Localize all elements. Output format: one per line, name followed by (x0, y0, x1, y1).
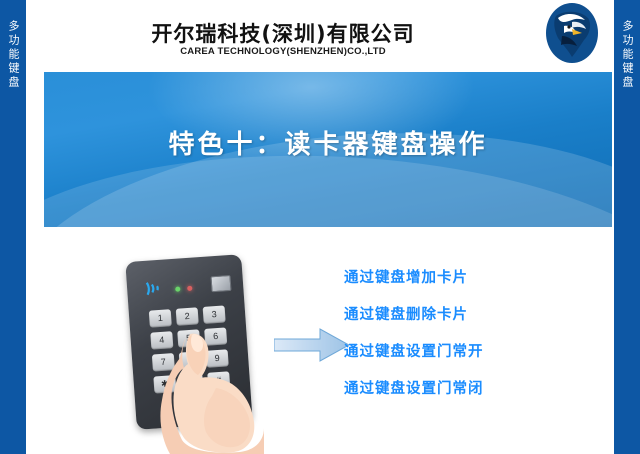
left-side-bar-label: 多功能键盘 (5, 20, 21, 90)
page-header: 开尔瑞科技(深圳)有限公司 CAREA TECHNOLOGY(SHENZHEN)… (26, 0, 614, 70)
eagle-logo (542, 2, 602, 64)
hand-pointing-illustration (156, 328, 266, 454)
right-side-bar: 多功能键盘 (614, 0, 640, 454)
slide-root: 多功能键盘 多功能键盘 开尔瑞科技(深圳)有限公司 CAREA TECHNOLO… (0, 0, 640, 454)
right-arrow-icon (274, 328, 350, 362)
rfid-wave-icon (142, 277, 169, 299)
led-green-icon (175, 286, 180, 291)
proximity-card-icon (210, 275, 231, 292)
slide-body: 1 2 3 4 5 6 7 8 9 ✱ 0 # (26, 240, 614, 454)
key-1[interactable]: 1 (149, 309, 172, 327)
feature-item-door-closed: 通过键盘设置门常闭 (344, 377, 550, 398)
feature-item-add-card: 通过键盘增加卡片 (344, 266, 550, 287)
section-banner: 特色十：读卡器键盘操作 (44, 72, 612, 227)
banner-title: 特色十：读卡器键盘操作 (44, 124, 612, 161)
company-name-en: CAREA TECHNOLOGY(SHENZHEN)CO.,LTD (26, 46, 540, 57)
feature-item-door-open: 通过键盘设置门常开 (344, 340, 550, 361)
key-3[interactable]: 3 (203, 305, 226, 323)
right-side-bar-label: 多功能键盘 (619, 20, 635, 90)
led-red-icon (187, 286, 192, 291)
feature-item-delete-card: 通过键盘删除卡片 (344, 303, 550, 324)
company-name-zh: 开尔瑞科技(深圳)有限公司 (26, 18, 540, 48)
left-side-bar: 多功能键盘 (0, 0, 26, 454)
feature-list: 通过键盘增加卡片 通过键盘删除卡片 通过键盘设置门常开 通过键盘设置门常闭 (344, 266, 550, 398)
key-2[interactable]: 2 (176, 307, 199, 325)
